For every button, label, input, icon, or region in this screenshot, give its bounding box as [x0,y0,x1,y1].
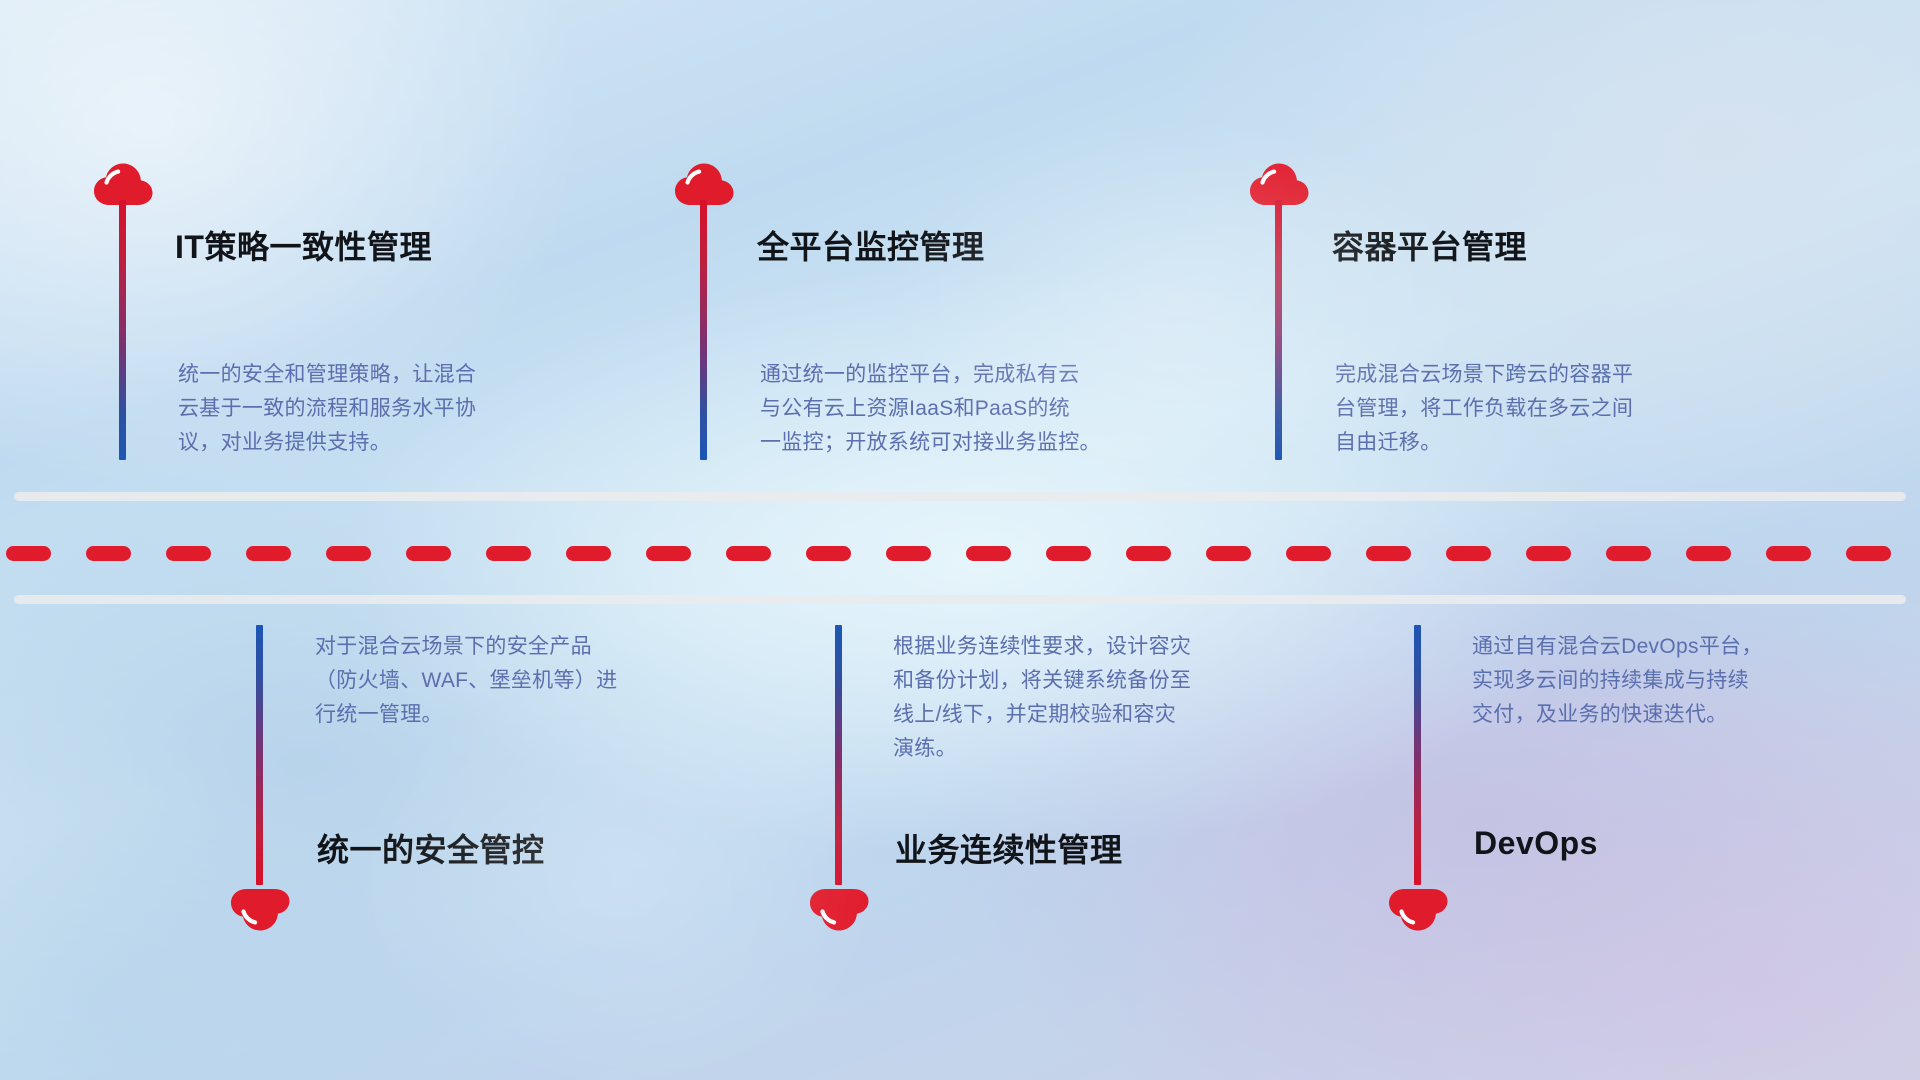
divider-dash [886,546,931,561]
divider-dash [1366,546,1411,561]
infographic-canvas: IT策略一致性管理 统一的安全和管理策略，让混合 云基于一致的流程和服务水平协 … [0,0,1920,1080]
cloud-icon [808,888,870,934]
column-description: 完成混合云场景下跨云的容器平 台管理，将工作负载在多云之间 自由迁移。 [1335,358,1765,460]
divider-dash [646,546,691,561]
column-title: 容器平台管理 [1332,222,1527,268]
column-title: IT策略一致性管理 [175,222,432,268]
divider-dash [1286,546,1331,561]
column-title: DevOps [1474,825,1598,862]
divider-dash [1846,546,1891,561]
dashed-road-divider [0,545,1920,561]
divider-dash [1046,546,1091,561]
cloud-icon [229,888,291,934]
timeline-bar [1275,200,1282,460]
divider-dash [486,546,531,561]
cloud-icon [1387,888,1449,934]
column-description: 根据业务连续性要求，设计容灾 和备份计划，将关键系统备份至 线上/线下，并定期校… [893,630,1323,766]
timeline-bar [700,200,707,460]
column-description: 通过自有混合云DevOps平台， 实现多云间的持续集成与持续 交付，及业务的快速… [1472,630,1902,732]
divider-dash [726,546,771,561]
divider-dash [566,546,611,561]
column-title: 业务连续性管理 [895,825,1123,871]
divider-dash [1126,546,1171,561]
divider-line-bottom [14,595,1906,604]
timeline-bar [256,625,263,885]
divider-dash [1686,546,1731,561]
divider-line-top [14,492,1906,501]
divider-dash [6,546,51,561]
divider-dash [326,546,371,561]
divider-dash [1206,546,1251,561]
column-title: 统一的安全管控 [317,825,545,871]
divider-dash [1526,546,1571,561]
timeline-bar [1414,625,1421,885]
timeline-bar [835,625,842,885]
column-description: 统一的安全和管理策略，让混合 云基于一致的流程和服务水平协 议，对业务提供支持。 [178,358,608,460]
divider-dash [246,546,291,561]
column-description: 通过统一的监控平台，完成私有云 与公有云上资源IaaS和PaaS的统 一监控；开… [760,358,1200,460]
divider-dash [1766,546,1811,561]
divider-dash [1446,546,1491,561]
divider-dash [1606,546,1651,561]
divider-dash [166,546,211,561]
column-title: 全平台监控管理 [757,222,985,268]
divider-dash [406,546,451,561]
divider-dash [966,546,1011,561]
divider-dash [86,546,131,561]
timeline-bar [119,200,126,460]
column-description: 对于混合云场景下的安全产品 （防火墙、WAF、堡垒机等）进 行统一管理。 [315,630,745,732]
divider-dash [806,546,851,561]
